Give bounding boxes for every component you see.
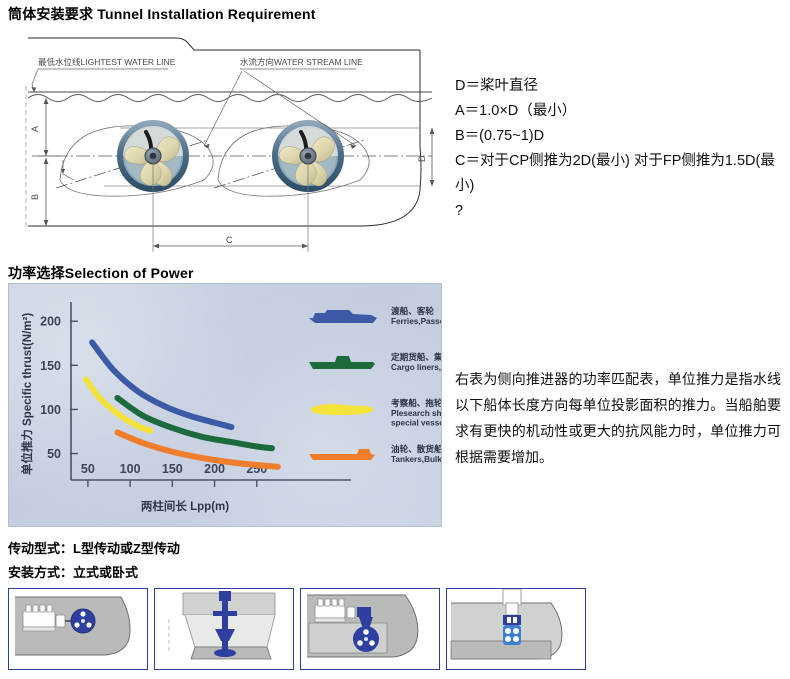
engine-icon	[315, 599, 345, 622]
thumb-horizontal-engine-tunnel[interactable]	[300, 588, 440, 670]
legend-item-1: 定期货船、集装箱船Cargo liners,Container ships	[309, 351, 441, 372]
y-axis-title: 单位推力 Specific thrust(N/m²)	[20, 313, 34, 475]
page-root: 筒体安装要求 Tunnel Installation Requirement	[0, 0, 790, 679]
legend-item-3: 油轮、散货船Tankers,Bulk carriers	[309, 443, 441, 464]
specific-thrust-chart: 5010015020050100150200250单位推力 Specific t…	[8, 283, 442, 527]
legend-item-0: 渡船、客轮Ferries,Passenger ships	[309, 305, 441, 326]
legend-ship-icon	[311, 404, 373, 415]
y-tick-label: 100	[40, 403, 61, 417]
legend-ship-icon	[309, 449, 375, 460]
spec-mounting-type: 安装方式：立式或卧式	[8, 562, 138, 581]
installation-thumbnail-row	[8, 588, 586, 670]
x-tick-label: 100	[120, 462, 141, 476]
legend-label-cn: 定期货船、集装箱船	[391, 351, 441, 362]
y-tick-label: 150	[40, 359, 61, 373]
legend-ship-icon	[309, 310, 377, 323]
thumb-horizontal-engine-drive[interactable]	[8, 588, 148, 670]
legend-label-cn: 油轮、散货船	[391, 443, 441, 454]
chart-series-line-2	[86, 379, 150, 430]
chart-series-line-0	[92, 342, 231, 427]
dimension-a-b: A B	[26, 86, 60, 228]
legend-label-en: Cargo liners,Container ships	[391, 363, 441, 372]
dim-def-d: D＝桨叶直径	[455, 74, 785, 99]
legend-label-en: special vessels,etc.	[391, 419, 441, 428]
svg-text:最低水位线LIGHTEST WATER LINE: 最低水位线LIGHTEST WATER LINE	[38, 57, 176, 67]
x-tick-label: 150	[162, 462, 183, 476]
tunnel-installation-drawing: 最低水位线LIGHTEST WATER LINE 水流方向WATER STREA…	[8, 28, 440, 256]
svg-text:C: C	[226, 235, 233, 245]
thumb-vertical-z-drive[interactable]	[154, 588, 294, 670]
dim-def-a: A＝1.0×D（最小）	[455, 99, 785, 124]
svg-text:水流方向WATER STREAM LINE: 水流方向WATER STREAM LINE	[240, 57, 363, 67]
dim-def-b: B＝(0.75~1)D	[455, 124, 785, 149]
thumb-vertical-retractable-thruster[interactable]	[446, 588, 586, 670]
dim-def-extra: ?	[455, 199, 785, 224]
legend-label-cn: 渡船、客轮	[391, 305, 434, 316]
retractable-thruster-icon	[503, 589, 521, 645]
spec-drive-type: 传动型式：L型传动或Z型传动	[8, 538, 180, 557]
legend-label-en: Plesearch ships,Tugs,Other	[391, 409, 441, 418]
chart-explanation-note: 右表为侧向推进器的功率匹配表，单位推力是指水线以下船体长度方向每单位投影面积的推…	[455, 366, 781, 470]
x-axis-title: 两柱间长 Lpp(m)	[141, 499, 229, 513]
x-tick-label: 50	[81, 462, 95, 476]
page-title-power: 功率选择Selection of Power	[8, 263, 194, 283]
y-tick-label: 200	[40, 315, 61, 329]
legend-label-cn: 考察船、拖轮及特殊船	[391, 397, 441, 408]
svg-text:A: A	[30, 126, 40, 132]
svg-text:D: D	[417, 155, 427, 162]
callout-lightest-water-line: 最低水位线LIGHTEST WATER LINE	[31, 57, 175, 92]
svg-text:B: B	[30, 194, 40, 200]
legend-label-en: Ferries,Passenger ships	[391, 317, 441, 326]
legend-ship-icon	[309, 356, 375, 369]
legend-item-2: 考察船、拖轮及特殊船Plesearch ships,Tugs,Otherspec…	[311, 397, 441, 428]
y-tick-label: 50	[47, 447, 61, 461]
legend-label-en: Tankers,Bulk carriers	[391, 455, 441, 464]
chart-axes	[71, 302, 351, 480]
dimension-definitions: D＝桨叶直径 A＝1.0×D（最小） B＝(0.75~1)D C＝对于CP侧推为…	[455, 74, 785, 224]
thruster-icon	[71, 609, 95, 633]
page-title-tunnel: 筒体安装要求 Tunnel Installation Requirement	[8, 4, 316, 24]
dim-def-c: C＝对于CP侧推为2D(最小) 对于FP侧推为1.5D(最小)	[455, 149, 785, 199]
